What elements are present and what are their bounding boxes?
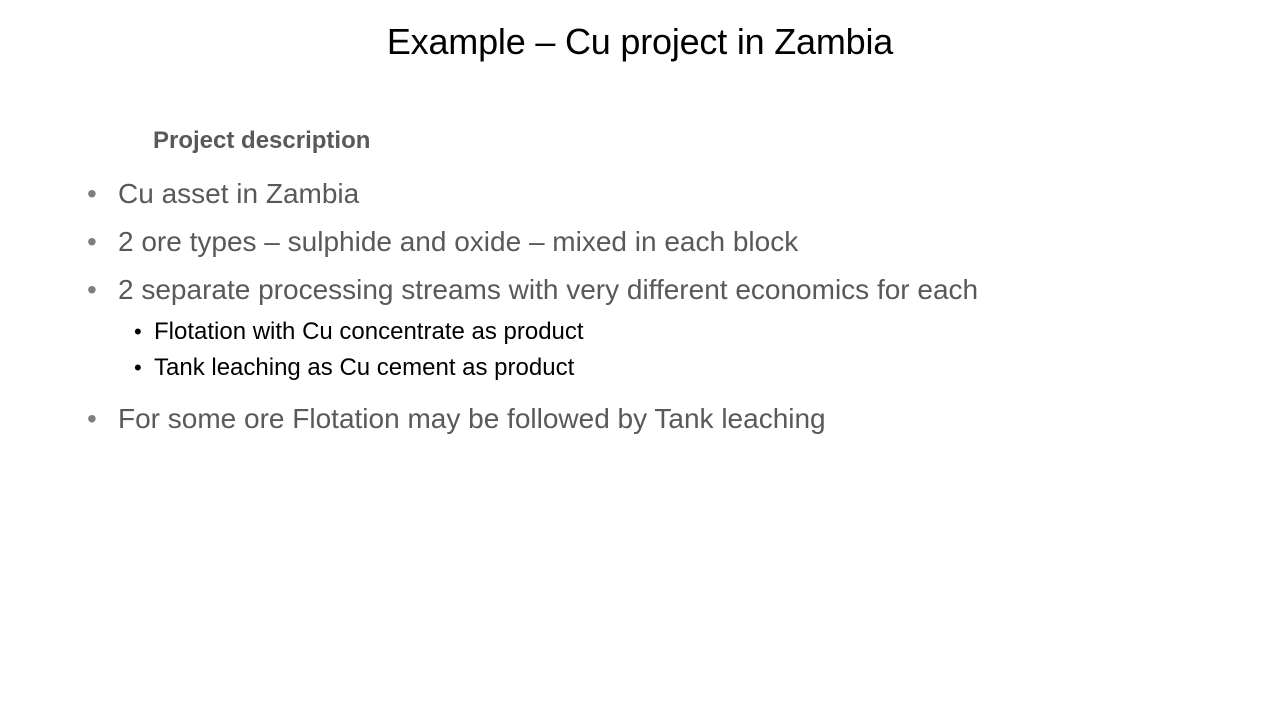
list-item: • Tank leaching as Cu cement as product	[0, 350, 1280, 386]
list-item-label: Flotation with Cu concentrate as product	[154, 318, 584, 345]
list-item-label: 2 ore types – sulphide and oxide – mixed…	[118, 226, 798, 257]
list-item: • 2 separate processing streams with ver…	[0, 266, 1280, 314]
bullet-icon: •	[87, 170, 97, 218]
slide-body: Project description • Cu asset in Zambia…	[0, 124, 1280, 443]
bullet-list-level-1: • Cu asset in Zambia • 2 ore types – sul…	[0, 170, 1280, 443]
list-item-label: Tank leaching as Cu cement as product	[154, 354, 574, 381]
page-title: Example – Cu project in Zambia	[0, 18, 1280, 66]
bullet-list-level-2: • Flotation with Cu concentrate as produ…	[0, 314, 1280, 386]
list-item-label: Cu asset in Zambia	[118, 178, 359, 209]
list-item-label: 2 separate processing streams with very …	[118, 274, 978, 305]
bullet-icon: •	[87, 395, 97, 443]
slide-canvas: Example – Cu project in Zambia Project d…	[0, 0, 1280, 720]
list-item: • Cu asset in Zambia	[0, 170, 1280, 218]
section-heading: Project description	[153, 124, 1280, 158]
bullet-icon: •	[87, 266, 97, 314]
list-item: • For some ore Flotation may be followed…	[0, 395, 1280, 443]
bullet-icon: •	[134, 350, 142, 386]
list-item-label: For some ore Flotation may be followed b…	[118, 403, 826, 434]
bullet-icon: •	[134, 314, 142, 350]
list-item: • 2 ore types – sulphide and oxide – mix…	[0, 218, 1280, 266]
bullet-icon: •	[87, 218, 97, 266]
list-item: • Flotation with Cu concentrate as produ…	[0, 314, 1280, 350]
